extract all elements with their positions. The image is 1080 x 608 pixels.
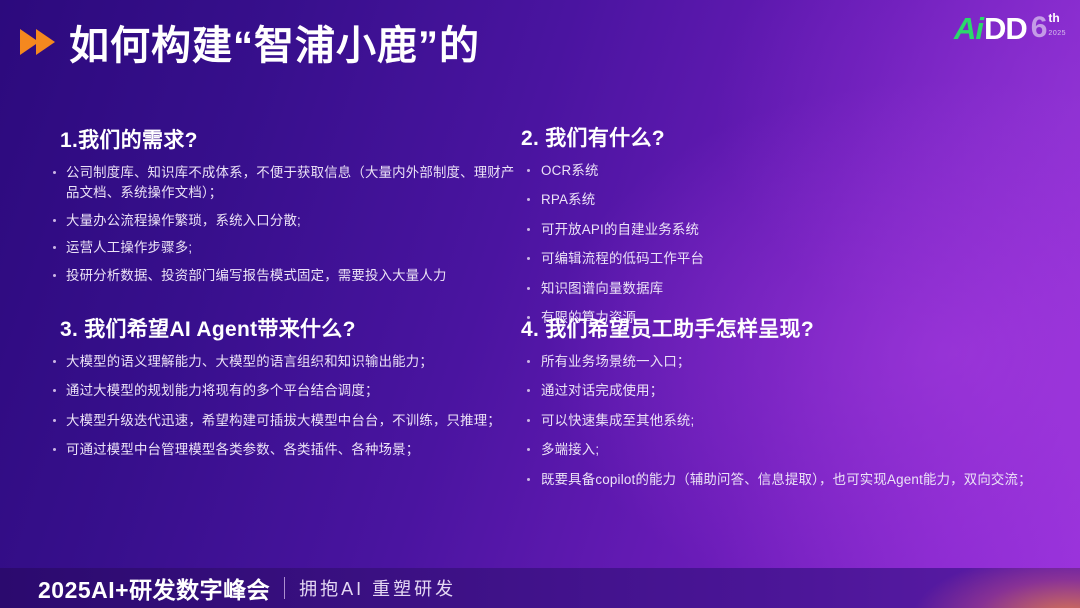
section-assets-list: OCR系统 RPA系统 可开放API的自建业务系统 可编辑流程的低码工作平台 知… [521,161,1061,328]
section-assistant-form: 4. 我们希望员工助手怎样呈现? 所有业务场景统一入口； 通过对话完成使用； 可… [521,313,1061,499]
section-needs-list: 公司制度库、知识库不成体系，不便于获取信息（大量内外部制度、理财产品文档、系统操… [46,163,516,286]
slide: 如何构建“智浦小鹿”的 Ai DD 6 th 2025 1.我们的需求? 公司制… [0,0,1080,608]
list-item: 既要具备copilot的能力（辅助问答、信息提取），也可实现Agent能力，双向… [521,470,1061,490]
fast-forward-icon [20,29,66,55]
section-agent-expectations: 3. 我们希望AI Agent带来什么? 大模型的语义理解能力、大模型的语言组织… [46,313,516,470]
logo-edition-number: 6 [1031,13,1048,43]
section-assistant-form-list: 所有业务场景统一入口； 通过对话完成使用； 可以快速集成至其他系统; 多端接入;… [521,352,1061,490]
list-item: 知识图谱向量数据库 [521,279,1061,299]
footer-content: 2025AI+研发数字峰会 拥抱AI 重塑研发 [38,571,456,605]
list-item: 可开放API的自建业务系统 [521,220,1061,240]
list-item: 公司制度库、知识库不成体系，不便于获取信息（大量内外部制度、理财产品文档、系统操… [46,163,516,204]
list-item: 运营人工操作步骤多; [46,238,516,258]
section-assets: 2. 我们有什么? OCR系统 RPA系统 可开放API的自建业务系统 可编辑流… [521,122,1061,337]
list-item: 通过大模型的规划能力将现有的多个平台结合调度； [46,381,516,401]
footer-divider [284,577,285,599]
list-item: 可通过模型中台管理模型各类参数、各类插件、各种场景； [46,440,516,460]
logo-ai-text: Ai [954,13,983,44]
slide-header: 如何构建“智浦小鹿”的 Ai DD 6 th 2025 [0,0,1080,80]
logo-ordinal-text: th [1048,12,1059,24]
section-needs-title: 1.我们的需求? [46,124,516,154]
section-needs: 1.我们的需求? 公司制度库、知识库不成体系，不便于获取信息（大量内外部制度、理… [46,124,516,293]
footer-slogan: 拥抱AI 重塑研发 [299,575,456,601]
slide-content: 1.我们的需求? 公司制度库、知识库不成体系，不便于获取信息（大量内外部制度、理… [0,118,1080,533]
section-agent-expectations-list: 大模型的语义理解能力、大模型的语言组织和知识输出能力； 通过大模型的规划能力将现… [46,352,516,461]
list-item: RPA系统 [521,190,1061,210]
list-item: 大模型的语义理解能力、大模型的语言组织和知识输出能力； [46,352,516,372]
section-assets-title: 2. 我们有什么? [521,122,1061,152]
list-item: OCR系统 [521,161,1061,181]
list-item: 通过对话完成使用； [521,381,1061,401]
logo-edition-badge: th 2025 [1048,12,1066,37]
list-item: 可编辑流程的低码工作平台 [521,249,1061,269]
section-agent-expectations-title: 3. 我们希望AI Agent带来什么? [46,313,516,343]
page-title: 如何构建“智浦小鹿”的 [69,13,480,71]
list-item: 大模型升级迭代迅速，希望构建可插拔大模型中台台，不训练，只推理； [46,411,516,431]
list-item: 所有业务场景统一入口； [521,352,1061,372]
logo-year-text: 2025 [1048,30,1066,37]
list-item: 可以快速集成至其他系统; [521,411,1061,431]
aidd-logo: Ai DD 6 th 2025 [954,9,1066,47]
list-item: 大量办公流程操作繁琐，系统入口分散; [46,211,516,231]
slide-footer: 2025AI+研发数字峰会 拥抱AI 重塑研发 [0,568,1080,608]
footer-event-title: 2025AI+研发数字峰会 [38,571,270,605]
list-item: 投研分析数据、投资部门编写报告模式固定，需要投入大量人力 [46,266,516,286]
section-assistant-form-title: 4. 我们希望员工助手怎样呈现? [521,313,1061,343]
logo-dd-text: DD [984,13,1027,44]
list-item: 多端接入; [521,440,1061,460]
